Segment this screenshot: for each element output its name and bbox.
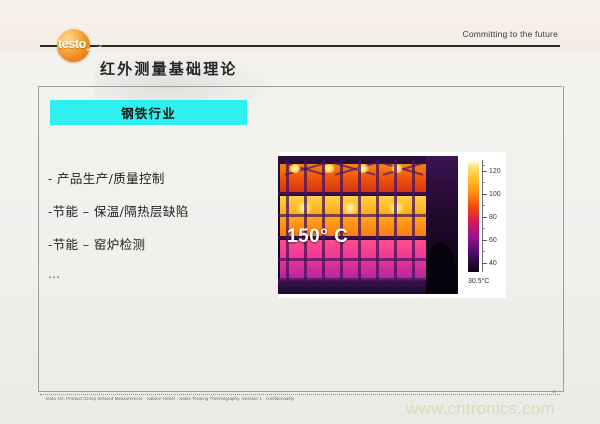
temperature-color-scale: 120 100 80 60 40 30.5°C: [468, 156, 506, 294]
subtitle-label: 钢铁行业: [121, 103, 176, 122]
mullion-line: [412, 160, 415, 282]
thermal-temperature-overlay: 150° C: [287, 226, 348, 248]
scale-tick: [482, 217, 487, 218]
site-watermark: www.cntronics.com: [406, 399, 555, 419]
bullet-list: - 产品生产/质量控制 -节能 – 保温/隔热层缺陷 -节能 – 窑炉检测 …: [48, 168, 263, 295]
mullion-line: [286, 160, 289, 282]
header-tagline: Committing to the future: [462, 29, 558, 39]
list-item-ellipsis: …: [48, 267, 263, 281]
footer-page-number: 2: [553, 389, 555, 394]
scale-tick-label: 60: [489, 237, 497, 244]
scale-tick: [482, 194, 487, 195]
slide-canvas: testo Committing to the future 红外测量基础理论 …: [0, 0, 600, 424]
thermal-hotspot: [390, 164, 404, 173]
scale-tick-label: 120: [489, 168, 501, 175]
scale-tick: [482, 171, 487, 172]
list-item: -节能 – 保温/隔热层缺陷: [48, 201, 263, 220]
thermal-image-figure: 150° C 120 100 80 60 40 30.5°C: [278, 152, 506, 298]
slide-header: testo Committing to the future: [0, 0, 600, 52]
thermal-hotspot: [340, 202, 360, 214]
scale-tick-label: 100: [489, 191, 501, 198]
scale-tick: [482, 240, 487, 241]
scale-tick-minor: [482, 165, 485, 166]
mullion-line: [340, 160, 343, 282]
footer-credit: testo AG, Product Group Infrared Measure…: [46, 396, 294, 401]
transom-line: [278, 214, 430, 217]
scale-min-label: 30.5°C: [468, 278, 489, 285]
scale-tick-minor: [482, 205, 485, 206]
scale-tick-minor: [482, 228, 485, 229]
list-item: - 产品生产/质量控制: [48, 168, 263, 187]
subtitle-banner: 钢铁行业: [50, 100, 247, 125]
scale-tick-minor: [482, 251, 485, 252]
thermal-image: 150° C: [278, 156, 458, 294]
color-scale-axis: [482, 160, 483, 272]
transom-line: [278, 278, 430, 281]
mullion-line: [322, 160, 325, 282]
mullion-line: [304, 160, 307, 282]
mullion-line: [394, 160, 397, 282]
header-divider: [40, 45, 560, 47]
mullion-line: [376, 160, 379, 282]
scale-tick-label: 80: [489, 214, 497, 221]
transom-line: [278, 258, 430, 261]
mullion-line: [358, 160, 361, 282]
transom-line: [278, 192, 430, 195]
color-scale-gradient: [468, 160, 479, 272]
list-item: -节能 – 窑炉检测: [48, 234, 263, 253]
thermal-hotspot: [288, 164, 302, 173]
scale-tick: [482, 263, 487, 264]
page-title: 红外测量基础理论: [100, 58, 238, 79]
scale-tick-minor: [482, 182, 485, 183]
scale-tick-label: 40: [489, 260, 497, 267]
